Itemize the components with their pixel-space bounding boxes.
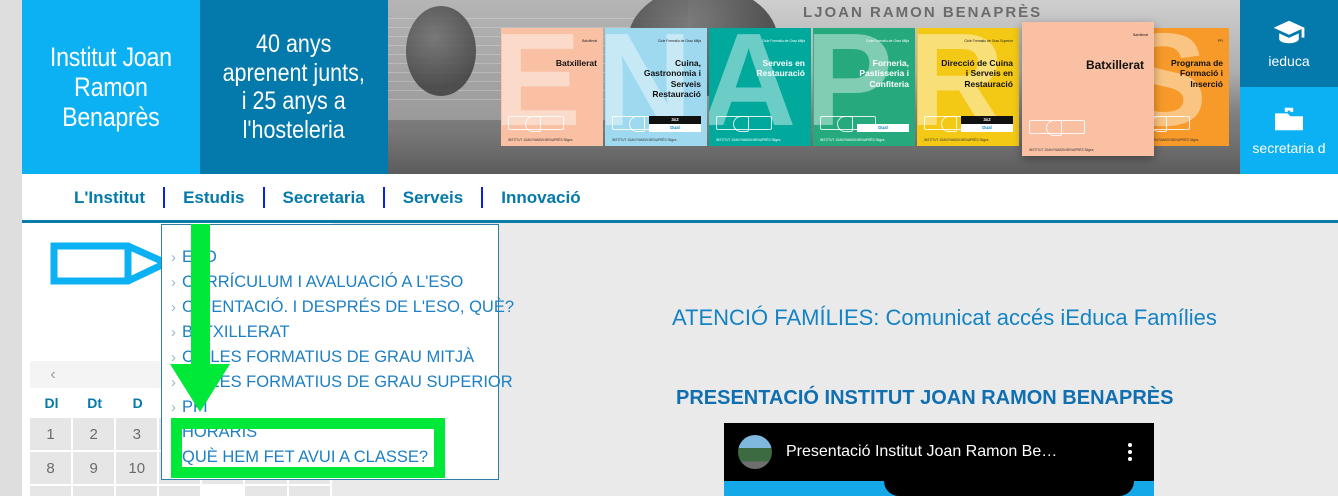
nav-item-estudis[interactable]: Estudis [165,188,262,208]
poster-meta: Cicle Formatiu de Grau Mitjà [641,39,701,43]
poster-meta: Batxillerat [537,39,597,43]
dropdown-item-cfgm[interactable]: CICLES FORMATIUS DE GRAU MITJÀ [162,345,498,370]
calendar-day-cell[interactable]: 3 [116,418,159,450]
sidebar-button-secretaria-label: secretaria d [1252,140,1325,156]
poster-dual-badge: 3x2 Dual [961,116,1013,132]
poster-card[interactable]: N Cicle Formatiu de Grau Mitjà Cuina, Ga… [605,28,707,146]
briefcase-icon [1272,105,1306,138]
kebab-menu-icon[interactable] [1120,443,1140,461]
left-gutter [0,0,22,496]
poster-logo-icon [716,116,772,130]
youtube-title-bar: Presentació Institut Joan Ramon Be… [724,423,1154,481]
poster-title: Direcció de Cuina i Serveis en Restaurac… [941,58,1013,89]
brand-block[interactable]: Institut Joan Ramon Benaprès [22,0,200,174]
youtube-video-embed[interactable]: Presentació Institut Joan Ramon Be… [724,423,1154,496]
poster-footer: INSTITUT JOAN RAMON BENAPRÈS Sitges [1029,148,1093,152]
poster-dual-bottom: Dual [857,124,909,132]
calendar-day-cell[interactable]: 10 [116,452,159,484]
calendar-day-cell[interactable] [116,486,159,496]
poster-footer: INSTITUT JOAN RAMON BENAPRÈS Sitges [924,138,988,142]
youtube-video-title[interactable]: Presentació Institut Joan Ramon Be… [786,443,1120,461]
dropdown-list: ESO CURRÍCULUM I AVALUACIÓ A L'ESO ORIEN… [162,225,498,470]
dropdown-item-curriculum[interactable]: CURRÍCULUM I AVALUACIÓ A L'ESO [162,270,498,295]
dropdown-item-batxillerat[interactable]: BATXILLERAT [162,320,498,345]
thumbnail-notch [884,481,1134,496]
nav-item-innovacio[interactable]: Innovació [483,188,598,208]
sidebar-button-ieduca-label: ieduca [1268,53,1309,69]
calendar-dow: Dt [73,388,116,418]
sidebar-button-ieduca[interactable]: ieduca [1240,0,1338,87]
poster-meta: PFI [1163,39,1223,43]
channel-avatar [738,435,772,469]
poster-footer: INSTITUT JOAN RAMON BENAPRÈS Sitges [508,138,572,142]
dropdown-item-horaris[interactable]: HORARIS [162,420,498,445]
poster-card[interactable]: A Cicle Formatiu de Grau Mitjà Serveis e… [709,28,811,146]
brand-title: Institut Joan Ramon Benaprès [50,42,172,133]
poster-meta: Cicle Formatiu de Grau Superior [953,39,1013,43]
poster-footer: INSTITUT JOAN RAMON BENAPRÈS Sitges [820,138,884,142]
calendar-day-cell[interactable] [289,486,332,496]
poster-dual-top: 3x2 [961,116,1013,124]
poster-title: Batxillerat [525,58,597,68]
site-banner: Institut Joan Ramon Benaprès 40 anys apr… [22,0,1338,174]
youtube-thumbnail[interactable] [724,481,1154,496]
poster-card[interactable]: R Cicle Formatiu de Grau Superior Direcc… [917,28,1019,146]
site-logo-icon [50,241,170,299]
calendar-dow: D [116,388,159,418]
dropdown-item-cfgs[interactable]: CICLES FORMATIUS DE GRAU SUPERIOR [162,370,498,395]
poster-footer: INSTITUT JOAN RAMON BENAPRÈS Sitges [716,138,780,142]
calendar-day-cell[interactable]: 9 [73,452,116,484]
poster-title: Cuina, Gastronomia i Serveis Restauració [629,58,701,99]
slogan-block: 40 anys aprenent junts, i 25 anys a l'ho… [200,0,388,174]
nav-list: L'Institut Estudis Secretaria Serveis In… [52,174,599,221]
calendar-prev-button[interactable]: ‹ [38,366,68,384]
poster-logo-icon [1029,120,1085,134]
calendar-day-cell[interactable]: 2 [73,418,116,450]
calendar-day-cell[interactable] [202,486,245,496]
dropdown-item-eso[interactable]: ESO [162,245,498,270]
calendar-week-row [30,486,332,496]
poster-dual-badge: Dual [857,116,909,132]
poster-dual-bottom: Dual [961,124,1013,132]
graduation-cap-icon [1272,18,1306,51]
estudis-dropdown-menu: ESO CURRÍCULUM I AVALUACIÓ A L'ESO ORIEN… [161,224,499,480]
dropdown-item-orientacio[interactable]: ORIENTACIÓ. I DESPRÉS DE L'ESO, QUÈ? [162,295,498,320]
poster-footer: INSTITUT JOAN RAMON BENAPRÈS Sitges [612,138,676,142]
poster-meta: Cicle Formatiu de Grau Mitjà [849,39,909,43]
calendar-day-cell[interactable] [245,486,288,496]
presentation-heading: PRESENTACIÓ INSTITUT JOAN RAMON BENAPRÈS [676,387,1296,410]
calendar-day-cell[interactable]: 8 [30,452,73,484]
poster-meta: Cicle Formatiu de Grau Mitjà [745,39,805,43]
calendar-dow: Dl [30,388,73,418]
nav-item-secretaria[interactable]: Secretaria [265,188,383,208]
poster-dual-badge: 3x2 Dual [649,116,701,132]
poster-meta: Batxillerat [1088,33,1148,37]
poster-title: Serveis en Restauració [733,58,805,79]
calendar-day-cell[interactable]: 1 [30,418,73,450]
poster-dual-bottom: Dual [649,124,701,132]
poster-logo-icon [508,116,564,130]
calendar-day-cell[interactable] [73,486,116,496]
nav-item-linstitut[interactable]: L'Institut [52,188,163,208]
poster-card[interactable]: E Batxillerat Batxillerat INSTITUT JOAN … [501,28,603,146]
calendar-day-cell[interactable] [159,486,202,496]
notice-link[interactable]: ATENCIÓ FAMÍLIES: Comunicat accés iEduca… [672,305,1292,331]
page-root: Institut Joan Ramon Benaprès 40 anys apr… [0,0,1338,496]
photo-tree [406,6,476,96]
dropdown-item-que-hem-fet-avui-a-classe[interactable]: QUÈ HEM FET AVUI A CLASSE? [162,445,498,470]
banner-photo: LJOAN RAMON BENAPRÈS E Batxillerat Batxi… [388,0,1338,174]
poster-title: Batxillerat [1044,58,1144,73]
poster-dual-top: 3x2 [649,116,701,124]
nav-item-serveis[interactable]: Serveis [385,188,482,208]
dropdown-item-pfi[interactable]: PFI [162,395,498,420]
main-navigation: L'Institut Estudis Secretaria Serveis In… [22,174,1338,221]
poster-title: Forneria, Pastisseria i Confiteria [837,58,909,89]
sidebar-button-secretaria[interactable]: secretaria d [1240,87,1338,174]
poster-card-front[interactable]: Batxillerat Batxillerat INSTITUT JOAN RA… [1022,22,1154,156]
slogan-text: 40 anys aprenent junts, i 25 anys a l'ho… [223,30,365,144]
poster-title: Programa de Formació i Inserció [1151,58,1223,89]
poster-card[interactable]: P Cicle Formatiu de Grau Mitjà Forneria,… [813,28,915,146]
calendar-day-cell[interactable] [30,486,73,496]
